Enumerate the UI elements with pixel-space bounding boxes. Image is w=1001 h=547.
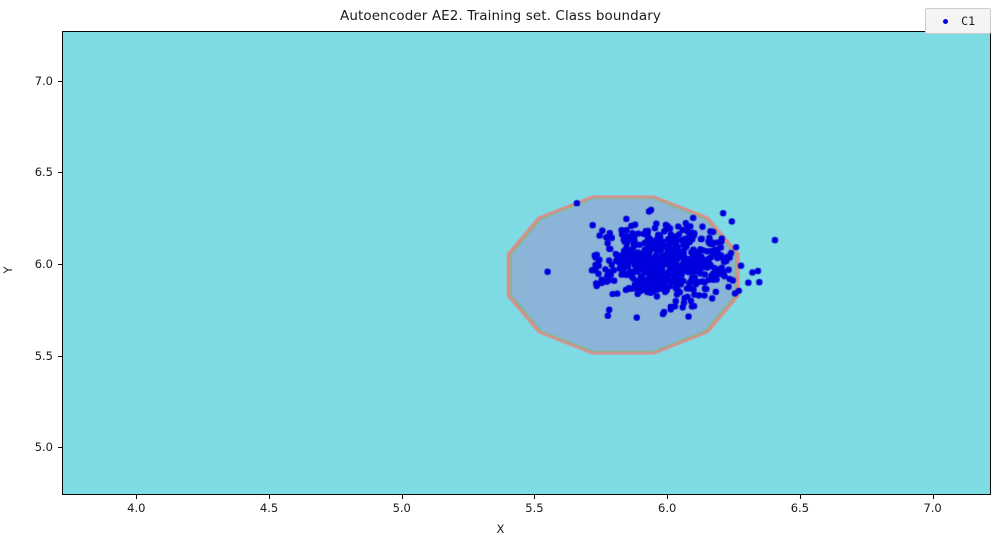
y-tick-mark [58,356,62,357]
x-tick-mark [402,495,403,499]
y-tick-mark [58,264,62,265]
x-tick-mark [667,495,668,499]
figure-canvas: Autoencoder AE2. Training set. Class bou… [0,0,1001,547]
y-tick-label: 6.0 [35,257,53,271]
legend-label-c1: C1 [961,14,981,28]
x-tick-mark [800,495,801,499]
x-tick-label: 6.5 [791,501,809,515]
scatter-plot-canvas [63,32,990,494]
x-tick-label: 4.0 [127,501,145,515]
x-tick-mark [269,495,270,499]
y-tick-mark [58,447,62,448]
x-tick-mark [534,495,535,499]
y-axis-label: Y [1,250,15,290]
x-tick-label: 5.5 [525,501,543,515]
y-tick-mark [58,81,62,82]
plot-area[interactable] [62,31,991,495]
chart-title: Autoencoder AE2. Training set. Class bou… [0,8,1001,24]
x-tick-label: 7.0 [923,501,941,515]
x-tick-mark [933,495,934,499]
x-tick-label: 6.0 [658,501,676,515]
y-tick-label: 5.5 [35,349,53,363]
legend[interactable]: C1 [925,8,991,34]
y-tick-label: 6.5 [35,165,53,179]
y-tick-label: 7.0 [35,74,53,88]
x-tick-label: 5.0 [393,501,411,515]
y-tick-mark [58,172,62,173]
legend-marker-c1-icon [943,19,948,24]
x-tick-mark [136,495,137,499]
x-tick-label: 4.5 [260,501,278,515]
y-tick-label: 5.0 [35,440,53,454]
x-axis-label: X [0,522,1001,536]
